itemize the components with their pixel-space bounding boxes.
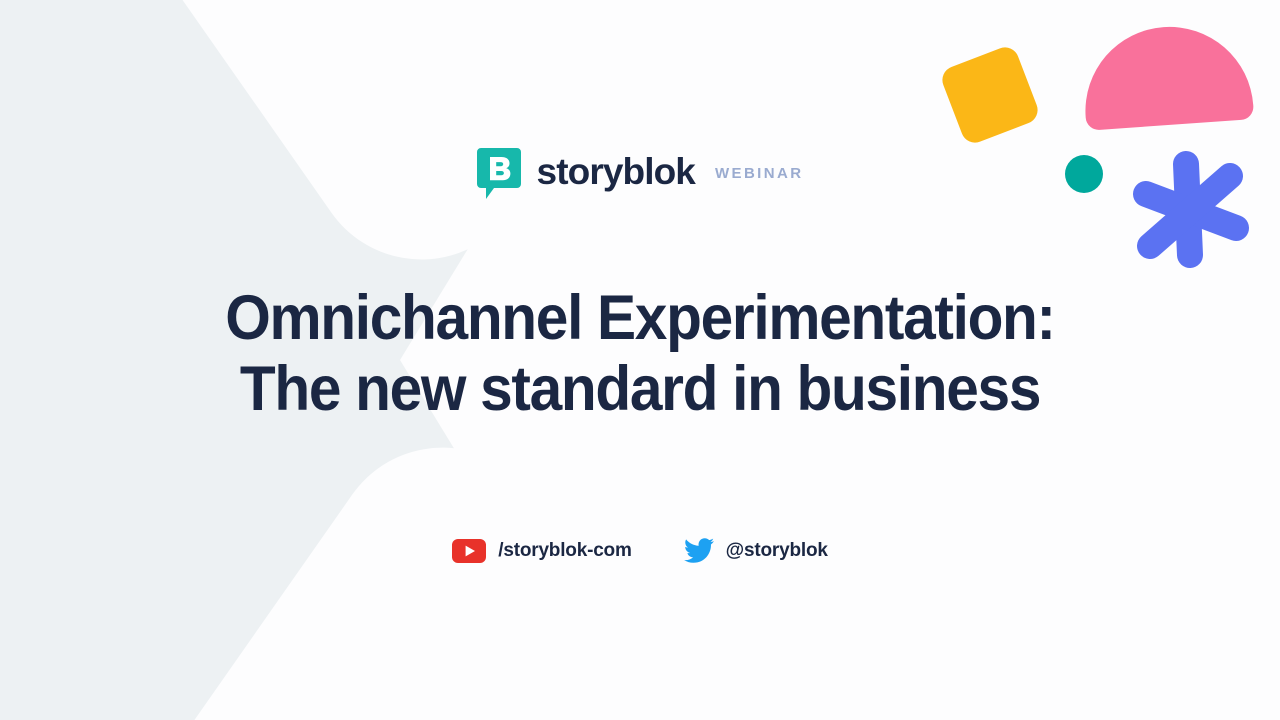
pink-dome-shape [1080, 21, 1254, 130]
social-label-twitter: @storyblok [726, 540, 828, 562]
social-link-youtube[interactable]: /storyblok-com [452, 539, 631, 563]
webinar-kicker-label: WEBINAR [715, 165, 803, 182]
social-links: /storyblok-com @storyblok [0, 538, 1280, 564]
page-title-line-1: Omnichannel Experimentation: [45, 283, 1235, 354]
storyblok-chat-bubble-b-logo-icon [477, 148, 521, 192]
page-title-line-2: The new standard in business [45, 354, 1235, 425]
social-label-youtube: /storyblok-com [498, 540, 631, 562]
yellow-rounded-diamond-shape [938, 43, 1041, 146]
webinar-title-slide: storyblok WEBINAR Omnichannel Experiment… [0, 0, 1280, 720]
social-link-twitter[interactable]: @storyblok [684, 538, 828, 564]
twitter-icon [684, 538, 714, 564]
storyblok-wordmark: storyblok [537, 153, 695, 190]
youtube-icon [452, 539, 486, 563]
brand-header: storyblok WEBINAR [0, 148, 1280, 192]
page-title: Omnichannel Experimentation: The new sta… [0, 283, 1280, 424]
